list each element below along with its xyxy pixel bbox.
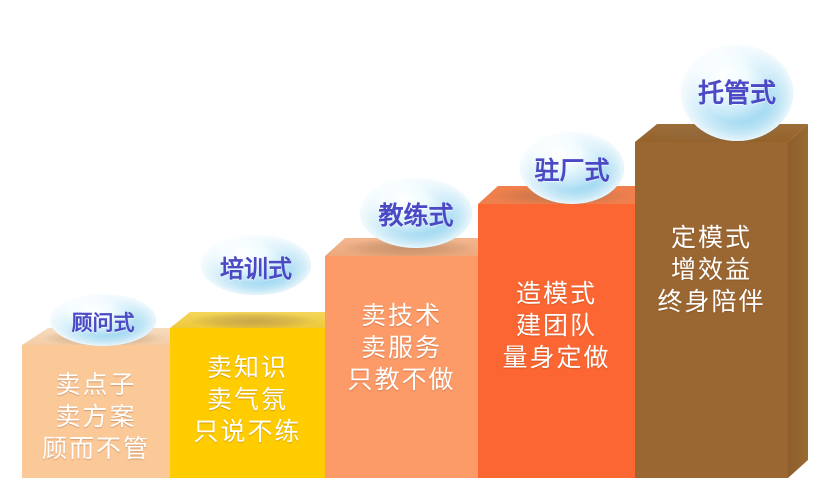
step-2-line-3: 只说不练 [170, 416, 325, 448]
step-5-description: 定模式 增效益 终身陪伴 [635, 222, 788, 318]
step-5-line-2: 增效益 [635, 254, 788, 286]
step-3-line-2: 卖服务 [325, 332, 478, 364]
step-1-bubble-label: 顾问式 [50, 307, 156, 337]
step-2-line-1: 卖知识 [170, 352, 325, 384]
step-1-line-3: 顾而不管 [22, 433, 170, 465]
step-1-description: 卖点子 卖方案 顾而不管 [22, 369, 170, 465]
step-3-line-3: 只教不做 [325, 364, 478, 396]
step-4-line-2: 建团队 [478, 310, 635, 342]
step-5-line-1: 定模式 [635, 222, 788, 254]
step-5-side-face [788, 124, 808, 478]
step-1-line-2: 卖方案 [22, 401, 170, 433]
step-4-line-1: 造模式 [478, 278, 635, 310]
step-5-line-3: 终身陪伴 [635, 286, 788, 318]
step-1-line-1: 卖点子 [22, 369, 170, 401]
step-3-bubble-label: 教练式 [360, 196, 472, 232]
step-3-description: 卖技术 卖服务 只教不做 [325, 300, 478, 396]
step-3-line-1: 卖技术 [325, 300, 478, 332]
step-4-line-3: 量身定做 [478, 342, 635, 374]
step-2-top-shadow [187, 312, 319, 330]
step-2-line-2: 卖气氛 [170, 384, 325, 416]
step-5-bubble-label: 托管式 [681, 73, 793, 110]
step-2-bubble-label: 培训式 [201, 249, 311, 284]
step-4-bubble-label: 驻厂式 [520, 151, 624, 187]
step-4-description: 造模式 建团队 量身定做 [478, 278, 635, 374]
staircase-diagram: 顾问式 培训式 教练式 驻厂式 托管式 卖点子 卖方案 顾而不管 卖知识 卖气氛… [0, 0, 819, 493]
step-2-description: 卖知识 卖气氛 只说不练 [170, 352, 325, 448]
